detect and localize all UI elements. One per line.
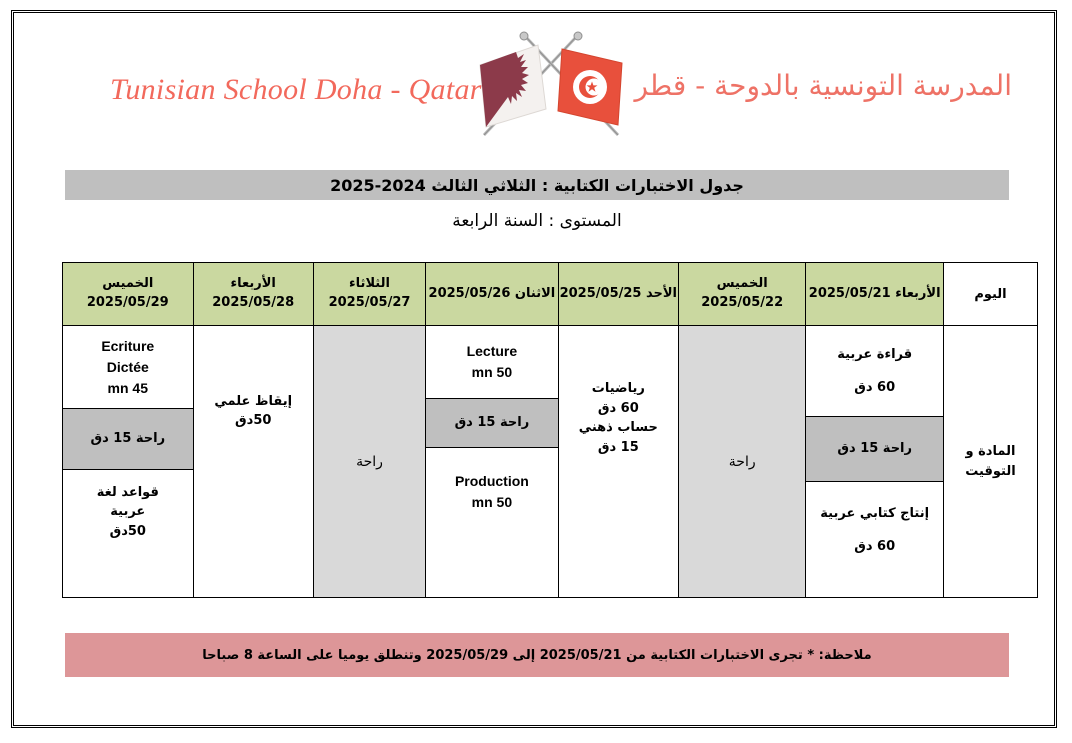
slot-exam-arabic-grammar: قواعد لغة عربية 50دق (63, 470, 193, 554)
day-column-2025-05-27-rest: راحة (313, 326, 425, 598)
header-cell-day-4: الثلاثاء 2025/05/27 (313, 263, 425, 326)
crossed-flags-icon (466, 31, 636, 149)
day-column-2025-05-28: إيقاظ علمي 50دق (193, 326, 313, 598)
school-name-arabic: المدرسة التونسية بالدوحة - قطر (634, 69, 1012, 102)
slot-line: حساب ذهني (579, 418, 658, 438)
day-date-1: 2025/05/22 (701, 295, 783, 310)
day-column-2025-05-26: Lecture 50 mn راحة 15 دق Production 50 m… (426, 326, 558, 598)
footer-note-text: ملاحظة: * تجرى الاختبارات الكتابية من 20… (202, 648, 871, 663)
slot-line: Lecture (467, 341, 518, 362)
slot-line: راحة 15 دق (90, 429, 165, 449)
slot-line: رياضيات (592, 379, 645, 399)
footer-note-bar: ملاحظة: * تجرى الاختبارات الكتابية من 20… (65, 633, 1009, 677)
slot-line: 60 دق (854, 537, 895, 557)
exam-schedule-table: اليوم الأربعاء 2025/05/21 الخميس 2025/05… (62, 262, 1038, 598)
slot-line: 45 mn (108, 378, 148, 399)
slot-line: قواعد لغة (97, 483, 159, 503)
day-date-6: 2025/05/29 (87, 295, 169, 310)
day-date-0: 2025/05/21 (809, 286, 891, 301)
slot-exam-arabic-writing: إنتاج كتابي عربية 60 دق (806, 482, 943, 578)
slot-line: قراءة عربية (837, 345, 912, 365)
table-body-row-subjects: المادة و التوقيت قراءة عربية 60 دق (63, 326, 1038, 598)
header-cell-day-2: الأحد 2025/05/25 (558, 263, 678, 326)
day-date-5: 2025/05/28 (212, 295, 294, 310)
slot-exam-maths: رياضيات 60 دق حساب ذهني 15 دق (559, 368, 678, 468)
header-cell-day-5: الأربعاء 2025/05/28 (193, 263, 313, 326)
page-border-frame: Tunisian School Doha - Qatar (11, 10, 1057, 728)
day-name-5: الأربعاء (231, 276, 276, 291)
day-column-2025-05-22-rest: راحة (678, 326, 805, 598)
slot-line: Production (455, 471, 529, 492)
slot-exam-ecriture-dictee: Ecriture Dictée 45 mn (63, 326, 193, 408)
document-subtitle: المستوى : السنة الرابعة (65, 211, 1009, 231)
slot-exam-lecture: Lecture 50 mn (426, 326, 557, 398)
header-cell-day-6: الخميس 2025/05/29 (63, 263, 194, 326)
day-date-4: 2025/05/27 (329, 295, 411, 310)
table-header-row: اليوم الأربعاء 2025/05/21 الخميس 2025/05… (63, 263, 1038, 326)
document-title: جدول الاختبارات الكتابية : الثلاثي الثال… (330, 176, 744, 195)
header-cell-day-0: الأربعاء 2025/05/21 (806, 263, 944, 326)
day-date-2: 2025/05/25 (560, 286, 642, 301)
slot-line: إيقاظ علمي (214, 392, 292, 412)
slot-line: 50دق (110, 522, 146, 542)
slot-line: راحة 15 دق (455, 413, 530, 433)
slot-line: 50 mn (472, 492, 512, 513)
slot-line: 50دق (235, 411, 271, 431)
page-content: Tunisian School Doha - Qatar (14, 13, 1054, 725)
school-name-latin: Tunisian School Doha - Qatar (110, 73, 482, 107)
slot-exam-arabic-reading: قراءة عربية 60 دق (806, 326, 943, 416)
slot-line: Dictée (107, 357, 149, 378)
slot-line: 50 mn (472, 362, 512, 383)
day-name-4: الثلاثاء (349, 276, 390, 291)
slot-break: راحة 15 دق (63, 408, 193, 470)
slot-line: 60 دق (854, 378, 895, 398)
letterhead: Tunisian School Doha - Qatar (38, 31, 1030, 146)
day-column-2025-05-29: Ecriture Dictée 45 mn راحة 15 دق قواعد ل… (63, 326, 194, 598)
day-name-1: الخميس (717, 276, 768, 291)
slot-exam-science: إيقاظ علمي 50دق (194, 378, 313, 444)
day-name-6: الخميس (102, 276, 153, 291)
document-title-bar: جدول الاختبارات الكتابية : الثلاثي الثال… (65, 170, 1009, 200)
day-name-3: الاثنان (515, 286, 555, 301)
slot-break: راحة 15 دق (426, 398, 557, 448)
slot-line: إنتاج كتابي عربية (820, 504, 929, 524)
exam-schedule-table-wrap: اليوم الأربعاء 2025/05/21 الخميس 2025/05… (62, 262, 1038, 598)
row-label-subject-and-time: المادة و التوقيت (943, 326, 1037, 598)
header-cell-day-3: الاثنان 2025/05/26 (426, 263, 558, 326)
slot-line: 60 دق (598, 399, 639, 419)
slot-line: عربية (110, 502, 145, 522)
header-cell-day-1: الخميس 2025/05/22 (678, 263, 805, 326)
slot-exam-production: Production 50 mn (426, 448, 557, 536)
slot-line: Ecriture (101, 336, 154, 357)
day-date-3: 2025/05/26 (429, 286, 511, 301)
slot-break: راحة 15 دق (806, 416, 943, 482)
day-name-0: الأربعاء (895, 286, 940, 301)
slot-line: 15 دق (598, 438, 639, 458)
day-column-2025-05-25: رياضيات 60 دق حساب ذهني 15 دق (558, 326, 678, 598)
header-cell-day-label: اليوم (943, 263, 1037, 326)
slot-line: راحة 15 دق (837, 439, 912, 459)
day-name-2: الأحد (646, 286, 677, 301)
day-column-2025-05-21: قراءة عربية 60 دق راحة 15 دق إنتاج كتابي… (806, 326, 944, 598)
